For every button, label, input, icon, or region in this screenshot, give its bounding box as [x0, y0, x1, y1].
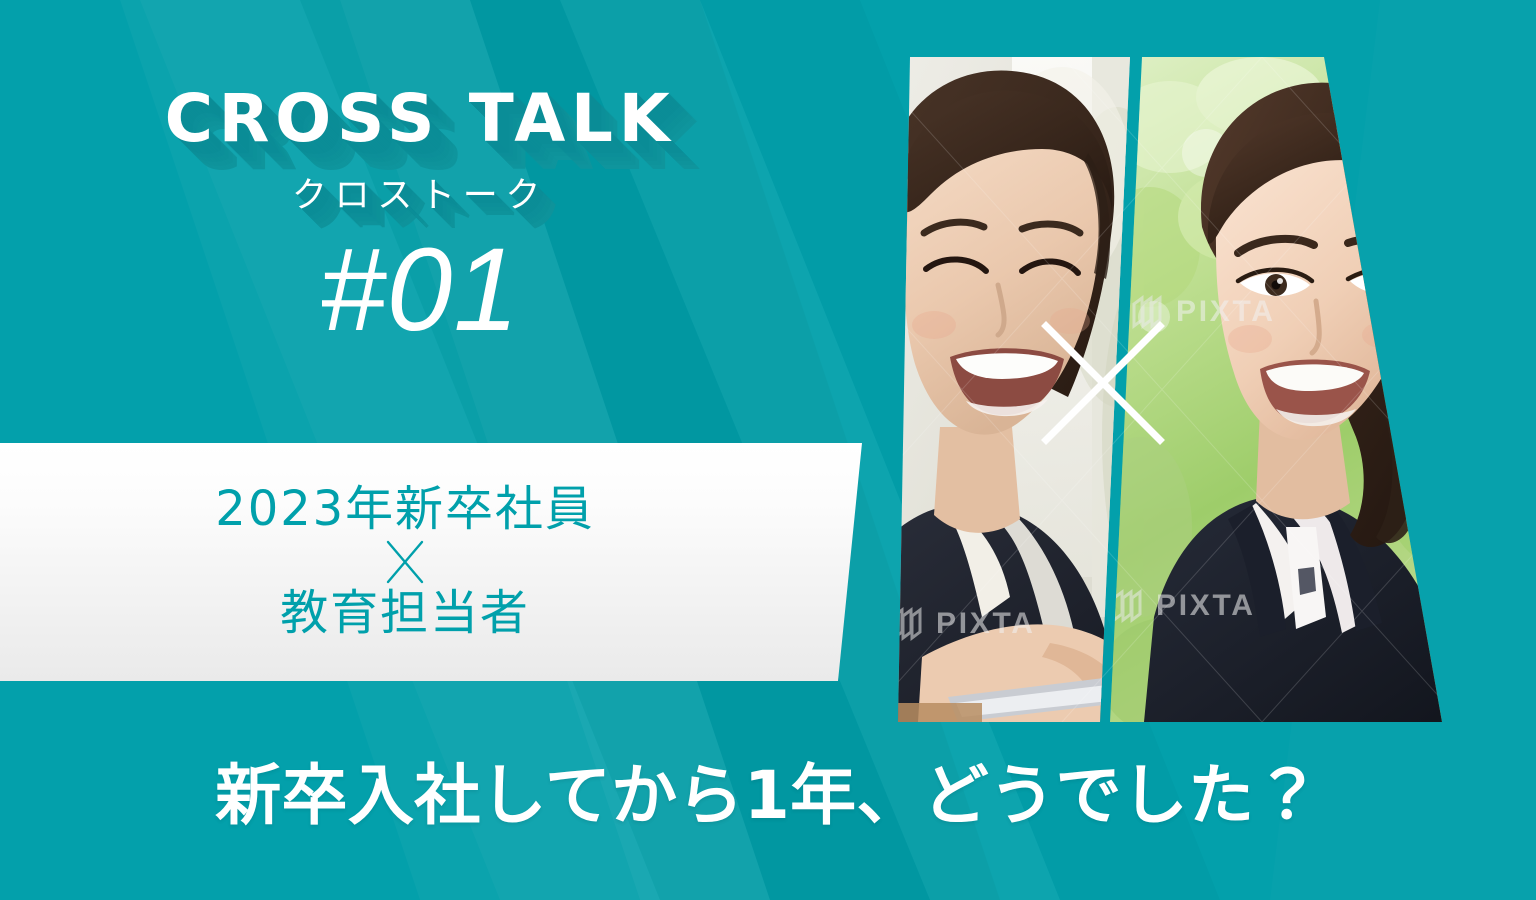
participants-banner: 2023年新卒社員 教育担当者	[0, 443, 880, 681]
x-cross-icon	[382, 538, 428, 586]
participant-line-1: 2023年新卒社員	[215, 484, 594, 536]
photo-collage: PIXTA	[862, 57, 1462, 722]
participants-banner-content: 2023年新卒社員 教育担当者	[0, 443, 810, 681]
brand-subtitle: クロストーク	[0, 178, 840, 213]
headline: 新卒入社してから1年、どうでした？	[0, 757, 1536, 835]
cross-talk-hero-banner: CROSS TALK クロストーク #01 2023年新卒社員 教育担当者	[0, 0, 1536, 900]
participant-line-2: 教育担当者	[280, 588, 530, 640]
episode-number: #01	[0, 229, 840, 353]
brand-block: CROSS TALK クロストーク #01	[0, 86, 840, 353]
photo-right: PIXTA PIXTA	[1110, 57, 1462, 722]
brand-title: CROSS TALK	[0, 86, 840, 152]
